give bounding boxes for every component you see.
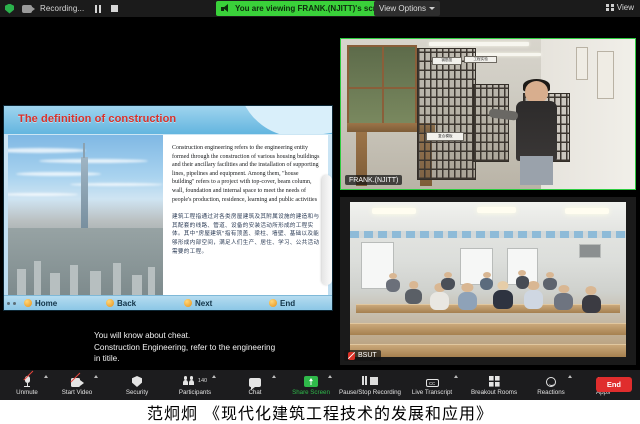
grid-view-icon [606,4,614,12]
slide-home-label: Home [35,299,57,308]
video-label-frank: FRANK.(NJITT) [345,175,402,185]
slide-end-button[interactable]: End [269,299,295,308]
video-label-text: FRANK.(NJITT) [349,177,398,184]
whiteboards-button[interactable]: Whiteboards [636,370,640,400]
pause-recording-button[interactable] [95,5,101,13]
start-video-button[interactable]: Start Video [58,370,96,400]
reactions-icon [546,377,556,387]
chevron-up-icon[interactable] [212,375,216,378]
participants-icon [183,376,196,385]
share-screen-icon [304,376,318,387]
security-button[interactable]: Security [118,370,156,400]
chevron-up-icon[interactable] [328,375,332,378]
unmute-button[interactable]: Unmute [8,370,46,400]
unmute-label: Unmute [16,389,38,396]
video-frame-lab: 钢筋笼 工程实验 复合模板 [341,39,635,189]
chevron-up-icon[interactable] [454,375,458,378]
slide-paragraph-chinese: 建筑工程指通过对各类房屋建筑及其附属设施的建造和与其配套的线路、管道、设备的安装… [172,213,320,256]
shield-icon [5,4,14,14]
shared-screen-area[interactable]: The definition of construction [0,17,336,370]
chat-label: Chat [248,389,261,396]
slide-back-label: Back [117,299,136,308]
chevron-up-icon[interactable] [568,375,572,378]
pause-icon [362,376,368,385]
lab-sign: 工程实验 [464,56,496,64]
top-bar: Recording... You are viewing FRANK.(NJIT… [0,0,640,17]
speaker-icon [221,4,230,13]
microphone-muted-icon [24,376,31,387]
live-transcript-label: Live Transcript [412,389,452,396]
participants-button[interactable]: 140 Participants [176,370,214,400]
slide-navigation-bar: Home Back Next End [4,295,332,310]
security-label: Security [126,389,148,396]
chevron-up-icon[interactable] [44,375,48,378]
bullet-icon [269,299,277,307]
camera-off-icon [71,378,84,387]
bullet-icon [24,299,32,307]
chat-icon [249,378,261,387]
slide-title: The definition of construction [18,113,176,125]
bottom-title-caption: 范炯炯 《现代化建筑工程技术的发展和应用》 [0,400,640,424]
view-options-button[interactable]: View Options [374,1,440,16]
caption-line-1: You will know about cheat. [94,330,329,342]
slide-back-button[interactable]: Back [106,299,136,308]
video-tile-bsut[interactable]: BSUT [340,197,636,365]
recording-controls: Recording... [0,4,118,14]
end-meeting-button[interactable]: End [596,377,632,392]
view-button[interactable]: View [606,3,634,12]
slide-header: The definition of construction [4,106,332,134]
pause-stop-recording-button[interactable]: Pause/Stop Recording [342,370,398,400]
viewing-screen-text: You are viewing FRANK.(NJITT)'s screen [235,4,390,13]
bullet-icon [184,299,192,307]
stop-recording-button[interactable] [111,5,118,12]
slide-nav-dots [4,302,16,305]
slide-home-button[interactable]: Home [24,299,57,308]
chevron-down-icon [429,7,435,10]
lab-sign: 复合模板 [426,132,464,141]
shield-icon [132,376,142,387]
chevron-up-icon[interactable] [94,375,98,378]
presentation-slide: The definition of construction [3,105,333,311]
breakout-rooms-icon [489,376,500,387]
person-presenter [512,81,562,183]
video-frame-classroom [340,197,636,365]
pause-stop-recording-label: Pause/Stop Recording [339,389,401,396]
meeting-stage: The definition of construction [0,17,640,370]
view-label: View [617,3,634,12]
slide-end-label: End [280,299,295,308]
slide-photo-skyscraper [8,135,163,295]
reactions-label: Reactions [537,389,565,396]
caption-line-2: Construction Engineering, refer to the e… [94,342,329,354]
live-transcript-button[interactable]: CC Live Transcript [408,370,456,400]
view-options-label: View Options [379,4,426,13]
slide-text-column: Construction engineering refers to the e… [163,135,328,295]
caption-line-3: in titile. [94,353,329,365]
bullet-icon [106,299,114,307]
participants-label: Participants [179,389,211,396]
slide-body: Construction engineering refers to the e… [8,135,328,295]
stop-icon [370,377,378,385]
share-screen-label: Share Screen [292,389,330,396]
share-screen-button[interactable]: Share Screen [292,370,330,400]
lab-sign: 钢筋笼 [432,57,461,65]
closed-caption-icon: CC [426,379,439,387]
slide-next-button[interactable]: Next [184,299,212,308]
video-label-text: BSUT [358,352,377,359]
slide-next-label: Next [195,299,212,308]
slide-paragraph-english: Construction engineering refers to the e… [172,144,320,204]
slide-page-curl [322,175,332,285]
breakout-rooms-label: Breakout Rooms [471,389,517,396]
recording-icon [22,5,32,13]
video-tile-frank[interactable]: 钢筋笼 工程实验 复合模板 FRANK.(NJITT) [340,38,636,190]
meeting-toolbar: Unmute Start Video Security 140 Particip… [0,370,640,400]
live-caption: You will know about cheat. Construction … [94,330,329,365]
microphone-muted-icon [348,352,355,360]
participants-count: 140 [198,378,207,384]
recording-label: Recording... [40,4,84,13]
start-video-label: Start Video [62,389,93,396]
reactions-button[interactable]: Reactions [532,370,570,400]
breakout-rooms-button[interactable]: Breakout Rooms [468,370,520,400]
zoom-meeting-window: Recording... You are viewing FRANK.(NJIT… [0,0,640,424]
video-label-bsut: BSUT [344,350,381,361]
chat-button[interactable]: Chat [236,370,274,400]
chevron-up-icon[interactable] [272,375,276,378]
